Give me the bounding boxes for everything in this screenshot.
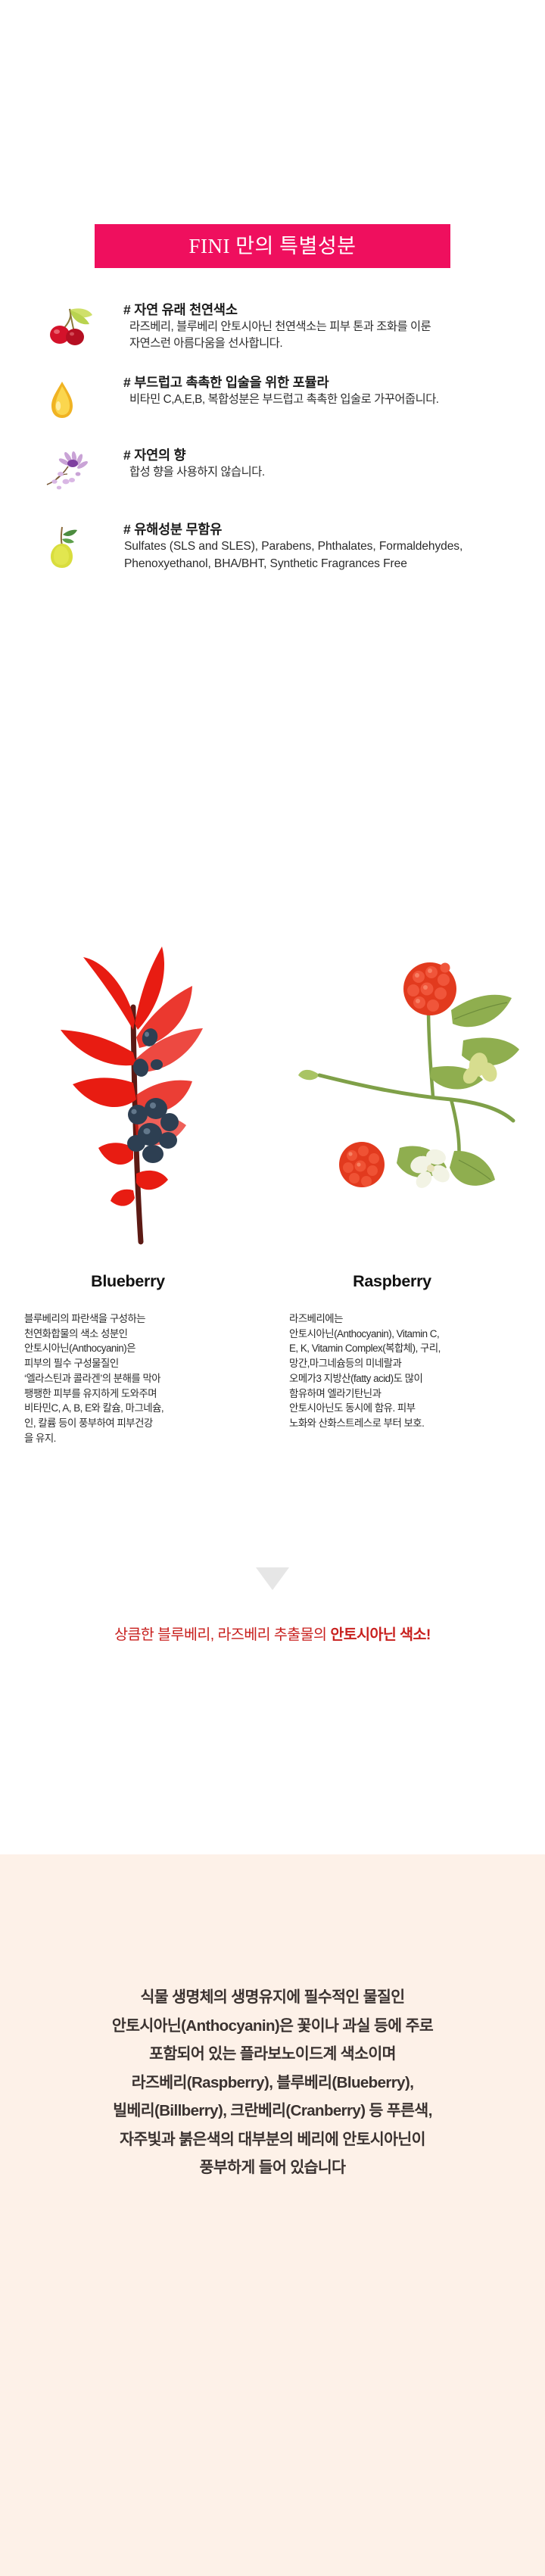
triangle-down-icon — [256, 1567, 289, 1590]
product-detail-page: FINI 만의 특별성분 # 자연 유래 천 — [0, 0, 545, 2576]
anthocyanin-tagline: 상큼한 블루베리, 라즈베리 추출물의 안토시아닌 색소! — [0, 1626, 545, 1644]
special-ingredients-banner: FINI 만의 특별성분 — [95, 224, 450, 268]
raspberry-branch-illustration — [272, 924, 545, 1249]
tagline-lead: 상큼한 블루베리, 라즈베리 추출물의 — [114, 1626, 330, 1643]
banner-title: FINI 만의 특별성분 — [188, 236, 356, 257]
raspberry-description: 라즈베리에는 안토시아닌(Anthocyanin), Vitamin C, E,… — [289, 1311, 539, 1431]
ingredient-desc: Sulfates (SLS and SLES), Parabens, Phtha… — [123, 538, 515, 572]
ingredient-list: # 자연 유래 천연색소 라즈베리, 블루베리 안토시아닌 천연색소는 피부 톤… — [45, 301, 515, 591]
pear-icon — [45, 522, 111, 569]
special-ingredients-section: FINI 만의 특별성분 # 자연 유래 천 — [0, 0, 545, 871]
ingredient-title: # 부드럽고 촉촉한 입술을 위한 포뮬라 — [123, 374, 515, 391]
anthocyanin-paragraph: 식물 생명체의 생명유지에 필수적인 물질인 안토시아닌(Anthocyanin… — [0, 1983, 545, 2182]
anthocyanin-info-section: 식물 생명체의 생명유지에 필수적인 물질인 안토시아닌(Anthocyanin… — [0, 1854, 545, 2576]
ingredient-title: # 유해성분 무함유 — [123, 521, 515, 538]
ingredient-desc: 라즈베리, 블루베리 안토시아닌 천연색소는 피부 톤과 조화를 이룬 자연스런… — [123, 319, 515, 351]
tagline-accent: 안토시아닌 색소! — [330, 1626, 431, 1643]
raspberry-title: Raspberry — [289, 1272, 539, 1291]
blueberry-column: Blueberry 블루베리의 파란색을 구성하는 천연화합물의 색소 성분인 … — [24, 1272, 274, 1445]
blueberry-branch-illustration — [0, 924, 272, 1249]
ingredient-row-formula: # 부드럽고 촉촉한 입술을 위한 포뮬라 비타민 C,A,E,B, 복합성분은… — [45, 374, 515, 429]
blueberry-title: Blueberry — [24, 1272, 274, 1291]
raspberry-column: Raspberry 라즈베리에는 안토시아닌(Anthocyanin), Vit… — [289, 1272, 539, 1431]
ingredient-row-natural-pigment: # 자연 유래 천연색소 라즈베리, 블루베리 안토시아닌 천연색소는 피부 톤… — [45, 301, 515, 356]
ingredient-title: # 자연의 향 — [123, 447, 515, 464]
blueberry-description: 블루베리의 파란색을 구성하는 천연화합물의 색소 성분인 안토시아닌(Anth… — [24, 1311, 274, 1445]
ingredient-desc: 비타민 C,A,E,B, 복합성분은 부드럽고 촉촉한 입술로 가꾸어줍니다. — [123, 391, 515, 408]
cherries-icon — [45, 303, 111, 350]
flower-icon — [45, 448, 111, 495]
ingredient-desc: 합성 향을 사용하지 않습니다. — [123, 464, 515, 481]
berry-comparison-section: Blueberry 블루베리의 파란색을 구성하는 천연화합물의 색소 성분인 … — [0, 871, 545, 1787]
oil-drop-icon — [45, 376, 111, 423]
ingredient-title: # 자연 유래 천연색소 — [123, 301, 515, 319]
ingredient-row-no-harmful: # 유해성분 무함유 Sulfates (SLS and SLES), Para… — [45, 521, 515, 575]
ingredient-row-natural-scent: # 자연의 향 합성 향을 사용하지 않습니다. — [45, 447, 515, 501]
